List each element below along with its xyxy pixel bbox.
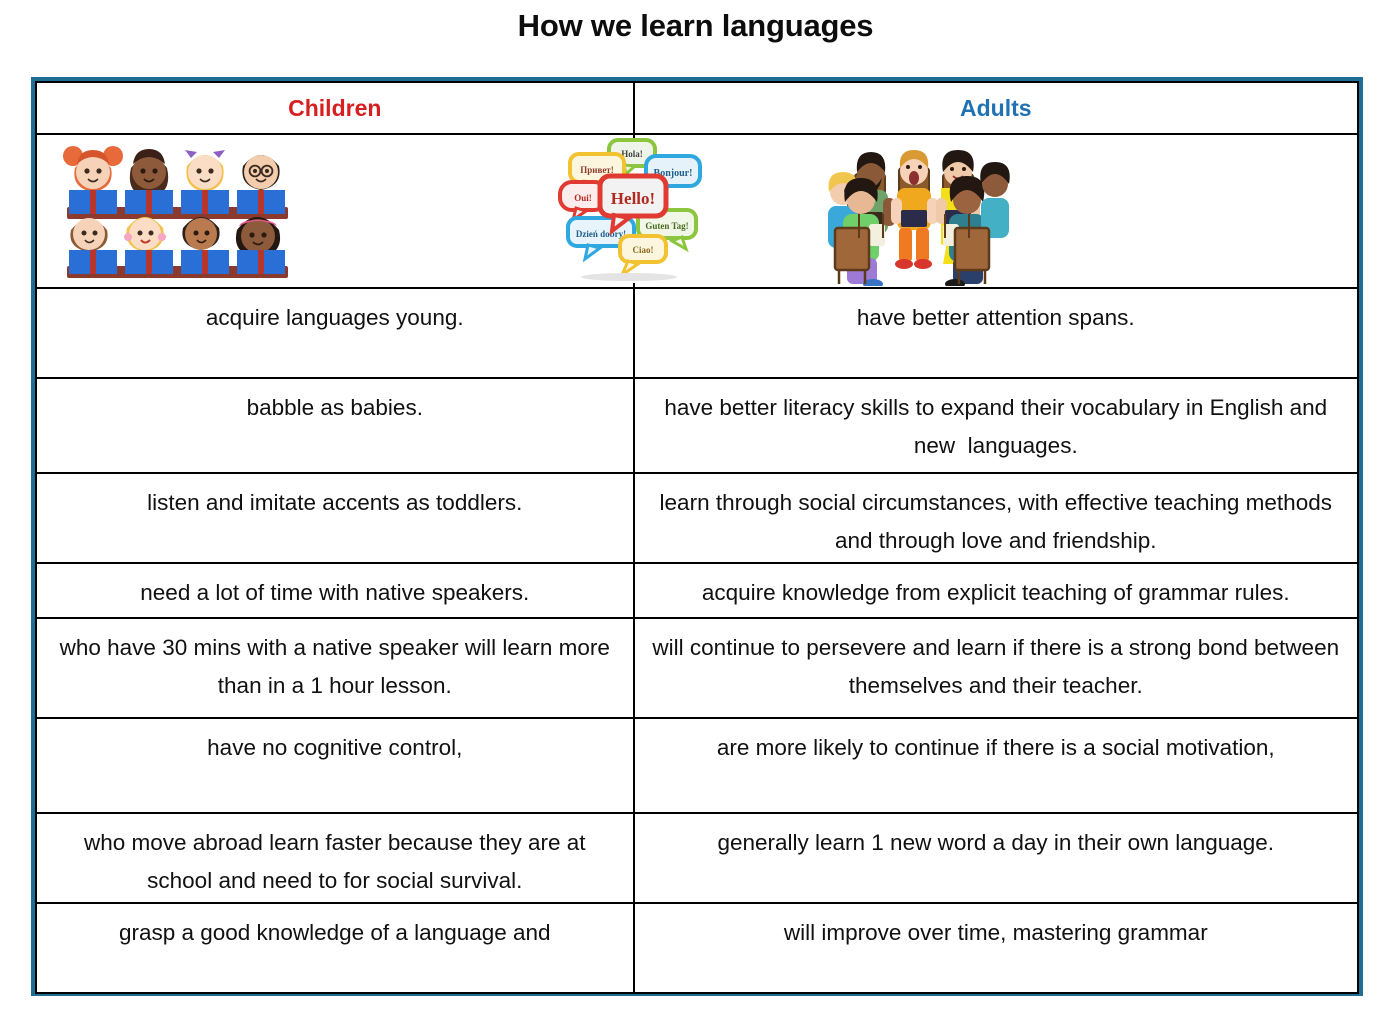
cell-text: generally learn 1 new word a day in thei… (635, 814, 1357, 862)
table-row: babble as babies. have better literacy s… (36, 378, 1358, 473)
svg-text:Oui!: Oui! (574, 193, 592, 203)
table-row: acquire languages young. have better att… (36, 288, 1358, 378)
svg-text:Привет!: Привет! (580, 165, 613, 175)
cell-adults: will improve over time, mastering gramma… (634, 903, 1358, 993)
multilingual-speech-bubbles-icon: Hola! Bonjour! Привет! Oui! (554, 138, 704, 283)
slide-canvas: How we learn languages Children Adults (0, 0, 1391, 1021)
table-row: have no cognitive control, are more like… (36, 718, 1358, 813)
cell-children: who move abroad learn faster because the… (36, 813, 634, 903)
image-cell-adults (634, 134, 1358, 288)
cell-children: acquire languages young. (36, 288, 634, 378)
cell-children: have no cognitive control, (36, 718, 634, 813)
cell-text: grasp a good knowledge of a language and (37, 904, 633, 952)
cell-text: will improve over time, mastering gramma… (635, 904, 1357, 952)
header-label-children: Children (37, 83, 633, 133)
cell-text: will continue to persevere and learn if … (635, 619, 1357, 705)
cell-children: babble as babies. (36, 378, 634, 473)
svg-text:Guten Tag!: Guten Tag! (645, 221, 688, 231)
svg-text:Hello!: Hello! (611, 189, 655, 208)
image-cell-children (36, 134, 634, 288)
svg-text:Ciao!: Ciao! (633, 245, 654, 255)
table-row: need a lot of time with native speakers.… (36, 563, 1358, 618)
cell-adults: have better literacy skills to expand th… (634, 378, 1358, 473)
cell-children: grasp a good knowledge of a language and (36, 903, 634, 993)
table-header-row: Children Adults (36, 82, 1358, 134)
adults-reading-group-icon (803, 138, 1018, 286)
cell-adults: learn through social circumstances, with… (634, 473, 1358, 563)
children-reading-books-icon (55, 138, 300, 283)
cell-adults: will continue to persevere and learn if … (634, 618, 1358, 718)
cell-text: acquire knowledge from explicit teaching… (635, 564, 1357, 612)
cell-children: need a lot of time with native speakers. (36, 563, 634, 618)
cell-text: have better literacy skills to expand th… (635, 379, 1357, 465)
table-row: who move abroad learn faster because the… (36, 813, 1358, 903)
cell-text: who move abroad learn faster because the… (37, 814, 633, 900)
cell-text: have better attention spans. (635, 289, 1357, 337)
svg-text:Dzień dobry!: Dzień dobry! (576, 229, 626, 239)
page-title: How we learn languages (0, 8, 1391, 44)
cell-text: babble as babies. (37, 379, 633, 427)
cell-text: need a lot of time with native speakers. (37, 564, 633, 612)
header-cell-adults: Adults (634, 82, 1358, 134)
cell-adults: have better attention spans. (634, 288, 1358, 378)
cell-text: acquire languages young. (37, 289, 633, 337)
cell-text: have no cognitive control, (37, 719, 633, 767)
cell-children: who have 30 mins with a native speaker w… (36, 618, 634, 718)
table-row: who have 30 mins with a native speaker w… (36, 618, 1358, 718)
table-row: grasp a good knowledge of a language and… (36, 903, 1358, 993)
cell-adults: generally learn 1 new word a day in thei… (634, 813, 1358, 903)
cell-text: are more likely to continue if there is … (635, 719, 1357, 767)
cell-text: who have 30 mins with a native speaker w… (37, 619, 633, 705)
cell-text: listen and imitate accents as toddlers. (37, 474, 633, 522)
cell-adults: acquire knowledge from explicit teaching… (634, 563, 1358, 618)
cell-adults: are more likely to continue if there is … (634, 718, 1358, 813)
cell-text: learn through social circumstances, with… (635, 474, 1357, 560)
cell-children: listen and imitate accents as toddlers. (36, 473, 634, 563)
header-label-adults: Adults (635, 83, 1357, 133)
table-row: listen and imitate accents as toddlers. … (36, 473, 1358, 563)
header-cell-children: Children (36, 82, 634, 134)
